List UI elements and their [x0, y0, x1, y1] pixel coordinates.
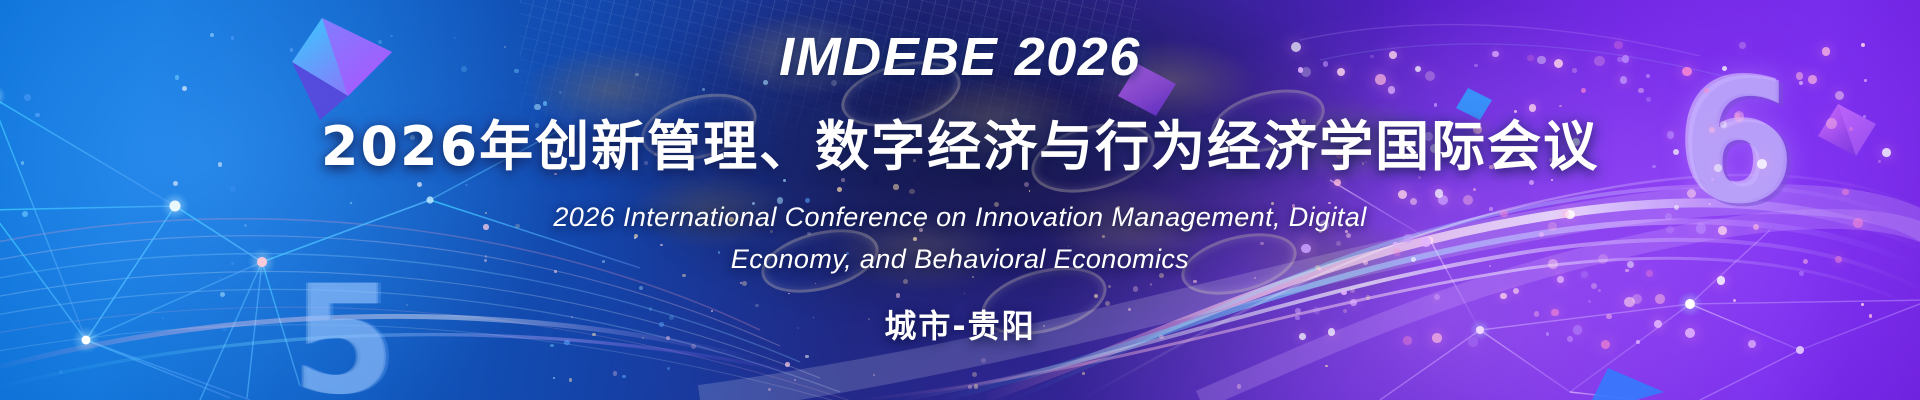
- banner-text-block: IMDEBE 2026 2026年创新管理、数字经济与行为经济学国际会议 202…: [0, 0, 1920, 400]
- conference-city: 城市-贵阳: [884, 301, 1035, 347]
- conference-title-chinese: 2026年创新管理、数字经济与行为经济学国际会议: [321, 102, 1599, 181]
- conference-banner: 5 6 IMDEBE 2026 2026年创新管理、数字经济与行为经济学国际会议…: [0, 0, 1920, 400]
- conference-title-english-line2: Economy, and Behavioral Economics: [731, 239, 1189, 281]
- conference-acronym: IMDEBE 2026: [779, 26, 1141, 88]
- conference-title-english-line1: 2026 International Conference on Innovat…: [553, 197, 1366, 239]
